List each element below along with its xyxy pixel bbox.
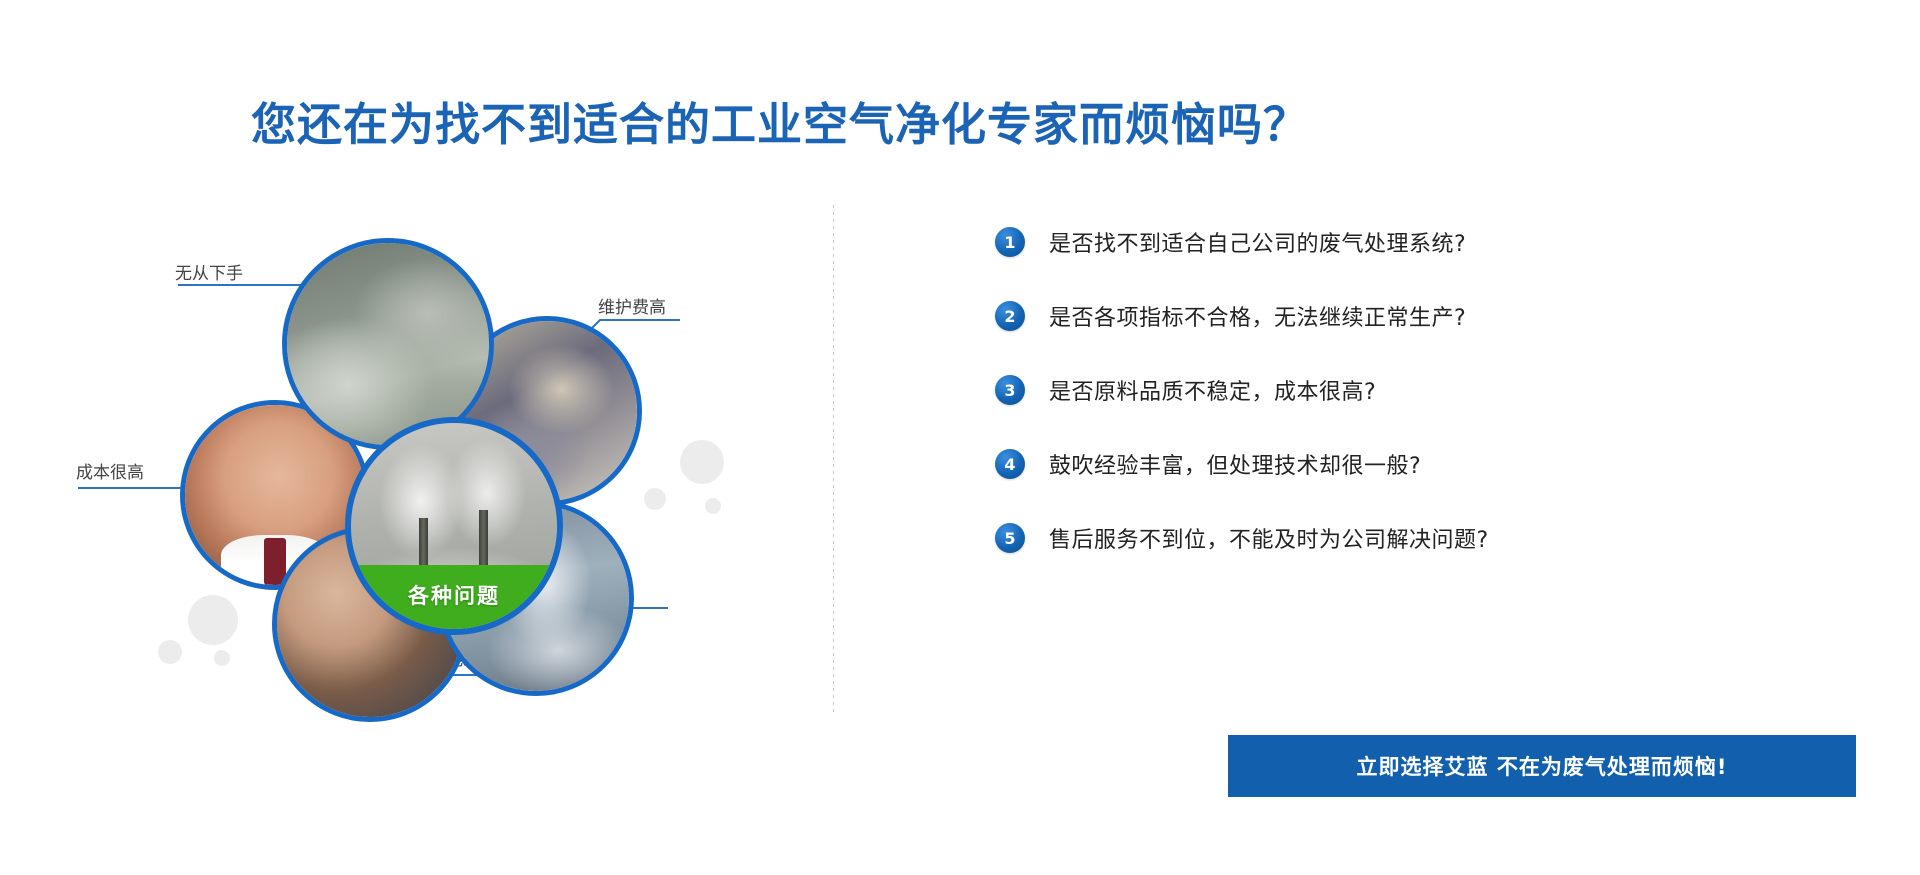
list-item: 3 是否原料品质不稳定，成本很高? [995, 353, 1815, 427]
list-item: 4 鼓吹经验丰富，但处理技术却很一般? [995, 427, 1815, 501]
diagram-label-top-right: 维护费高 [598, 293, 666, 318]
list-item-label: 售后服务不到位，不能及时为公司解决问题? [1049, 522, 1489, 554]
diagram-label-left: 成本很高 [76, 458, 144, 483]
problem-list: 1 是否找不到适合自己公司的废气处理系统? 2 是否各项指标不合格，无法继续正常… [995, 205, 1815, 575]
list-item-label: 是否各项指标不合格，无法继续正常生产? [1049, 300, 1466, 332]
list-number-badge: 5 [995, 523, 1025, 553]
list-item-label: 鼓吹经验丰富，但处理技术却很一般? [1049, 448, 1421, 480]
list-number-badge: 1 [995, 227, 1025, 257]
promo-banner: 您还在为找不到适合的工业空气净化专家而烦恼吗？ [0, 0, 1920, 875]
list-number-badge: 3 [995, 375, 1025, 405]
cta-button[interactable]: 立即选择艾蓝 不在为废气处理而烦恼! [1228, 735, 1856, 797]
list-item: 2 是否各项指标不合格，无法继续正常生产? [995, 279, 1815, 353]
page-title: 您还在为找不到适合的工业空气净化专家而烦恼吗？ [0, 88, 1560, 153]
list-item-label: 是否找不到适合自己公司的废气处理系统? [1049, 226, 1466, 258]
list-item: 5 售后服务不到位，不能及时为公司解决问题? [995, 501, 1815, 575]
vertical-divider [833, 205, 834, 715]
center-label-text: 各种问题 [408, 580, 500, 610]
list-item: 1 是否找不到适合自己公司的废气处理系统? [995, 205, 1815, 279]
diagram-label-top-left: 无从下手 [175, 259, 243, 284]
list-number-badge: 4 [995, 449, 1025, 479]
smoke-plume-gray-photo [287, 243, 489, 445]
list-number-badge: 2 [995, 301, 1025, 331]
headline-text: 您还在为找不到适合的工业空气净化专家而烦恼吗？ [0, 88, 1560, 153]
list-item-label: 是否原料品质不稳定，成本很高? [1049, 374, 1376, 406]
center-label-band: 各种问题 [351, 565, 557, 629]
bubble-center-problems: 各种问题 [345, 417, 563, 635]
problem-flower-diagram: 各种问题 无从下手 维护费高 成本很高 太复杂 经常抱怨 [0, 210, 840, 830]
